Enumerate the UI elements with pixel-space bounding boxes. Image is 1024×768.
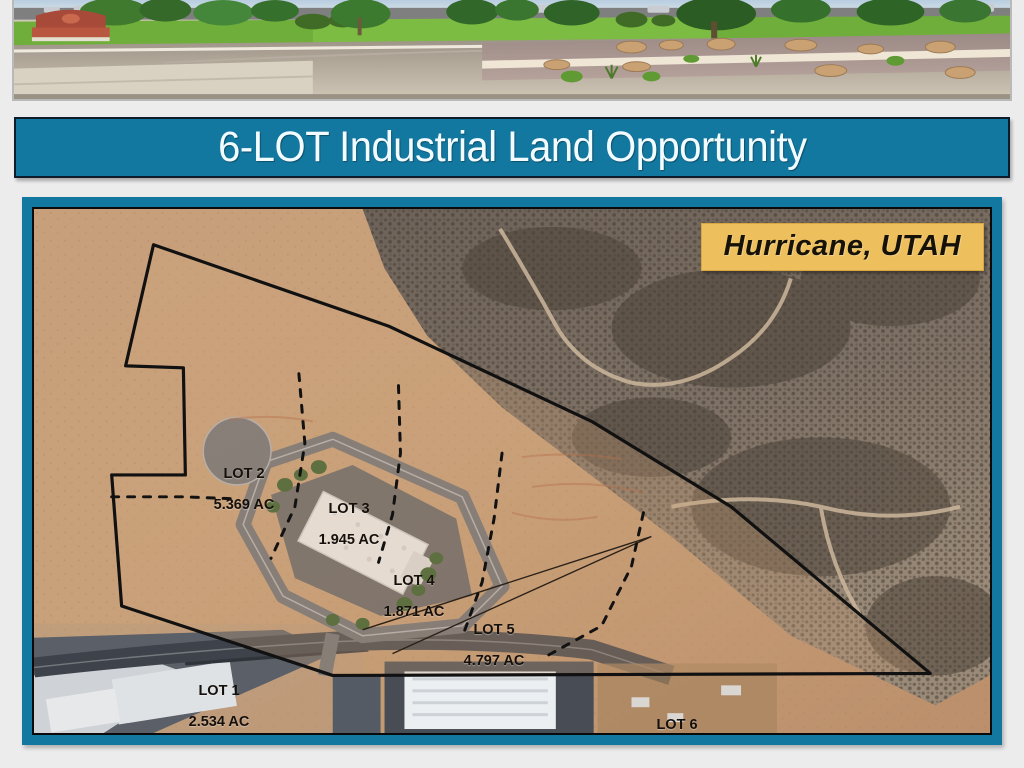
location-label: Hurricane, UTAH	[724, 230, 961, 262]
lot-name: LOT 2	[189, 467, 299, 482]
location-badge: Hurricane, UTAH	[701, 223, 984, 271]
lot-name: LOT 6	[622, 718, 732, 733]
lot-label-lot-5: LOT 5 4.797 AC	[439, 623, 549, 669]
lot-label-lot-4: LOT 4 1.871 AC	[359, 574, 469, 620]
lot-label-lot-1: LOT 1 2.534 AC	[164, 684, 274, 730]
lot-label-lot-6: LOT 6 7.677 AC	[622, 718, 732, 735]
lot-name: LOT 1	[164, 684, 274, 699]
lot-name: LOT 4	[359, 574, 469, 589]
lot-acreage: 2.534 AC	[164, 715, 274, 730]
aerial-map-panel: Hurricane, UTAH LOT 1 2.534 AC LOT 2 5.3…	[22, 197, 1002, 745]
lot-acreage: 1.945 AC	[294, 533, 404, 548]
aerial-map-inner: Hurricane, UTAH LOT 1 2.534 AC LOT 2 5.3…	[32, 207, 992, 735]
page-title: 6-LOT Industrial Land Opportunity	[218, 123, 807, 172]
site-photo-strip	[12, 0, 1012, 101]
lot-acreage: 1.871 AC	[359, 605, 469, 620]
title-banner: 6-LOT Industrial Land Opportunity	[14, 117, 1010, 178]
lot-acreage: 4.797 AC	[439, 654, 549, 669]
slide: 6-LOT Industrial Land Opportunity	[0, 0, 1024, 768]
lot-label-lot-3: LOT 3 1.945 AC	[294, 502, 404, 548]
site-photo-illustration	[14, 0, 1010, 99]
lot-label-lot-2: LOT 2 5.369 AC	[189, 467, 299, 513]
lot-name: LOT 3	[294, 502, 404, 517]
lot-acreage: 5.369 AC	[189, 498, 299, 513]
lot-name: LOT 5	[439, 623, 549, 638]
